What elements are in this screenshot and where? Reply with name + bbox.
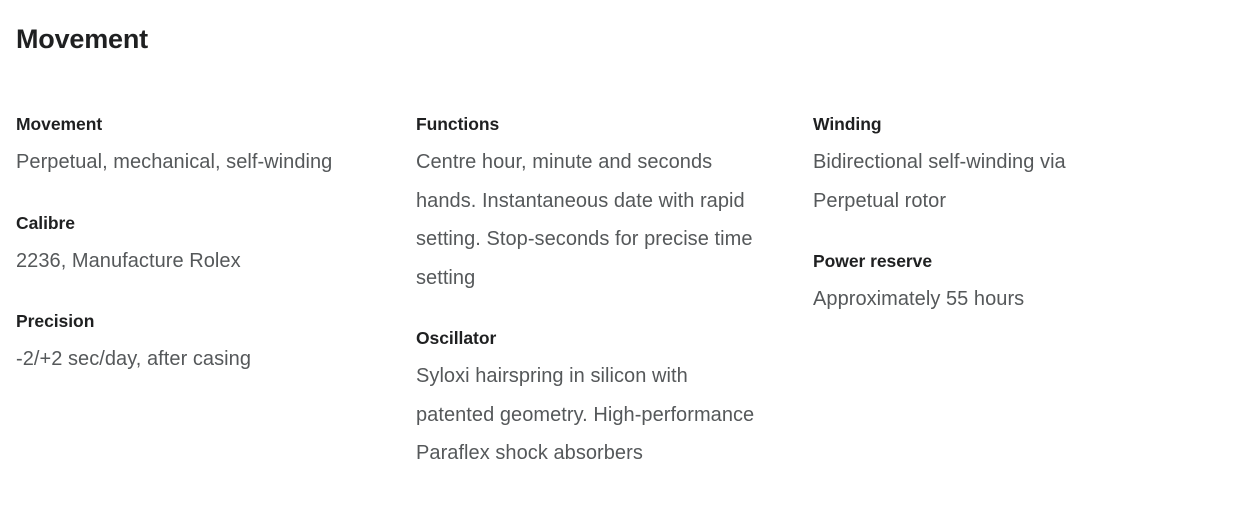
spec-block: Winding Bidirectional self-winding via P…: [813, 105, 1156, 220]
spec-block: Oscillator Syloxi hairspring in silicon …: [416, 319, 762, 473]
spec-body: -2/+2 sec/day, after casing: [16, 340, 368, 379]
spec-block: Calibre 2236, Manufacture Rolex: [16, 204, 368, 281]
spec-body: 2236, Manufacture Rolex: [16, 242, 368, 281]
spec-body: Centre hour, minute and seconds hands. I…: [416, 143, 762, 297]
page-title: Movement: [16, 23, 148, 55]
spec-heading: Oscillator: [416, 319, 762, 357]
spec-block: Power reserve Approximately 55 hours: [813, 242, 1156, 319]
spec-heading: Winding: [813, 105, 1156, 143]
spec-body: Syloxi hairspring in silicon with patent…: [416, 357, 762, 473]
spec-heading: Movement: [16, 105, 368, 143]
spec-column-functions: Functions Centre hour, minute and second…: [394, 105, 788, 473]
spec-heading: Functions: [416, 105, 762, 143]
movement-specifications-page: Movement Movement Perpetual, mechanical,…: [0, 0, 1249, 526]
spec-column-winding: Winding Bidirectional self-winding via P…: [788, 105, 1182, 319]
spec-column-movement: Movement Perpetual, mechanical, self-win…: [0, 105, 394, 379]
spec-block: Precision -2/+2 sec/day, after casing: [16, 302, 368, 379]
spec-heading: Precision: [16, 302, 368, 340]
spec-block: Functions Centre hour, minute and second…: [416, 105, 762, 297]
spec-heading: Power reserve: [813, 242, 1156, 280]
specifications-columns: Movement Perpetual, mechanical, self-win…: [0, 105, 1249, 473]
spec-body: Perpetual, mechanical, self-winding: [16, 143, 368, 182]
spec-heading: Calibre: [16, 204, 368, 242]
spec-body: Approximately 55 hours: [813, 280, 1156, 319]
spec-block: Movement Perpetual, mechanical, self-win…: [16, 105, 368, 182]
spec-body: Bidirectional self-winding via Perpetual…: [813, 143, 1156, 220]
